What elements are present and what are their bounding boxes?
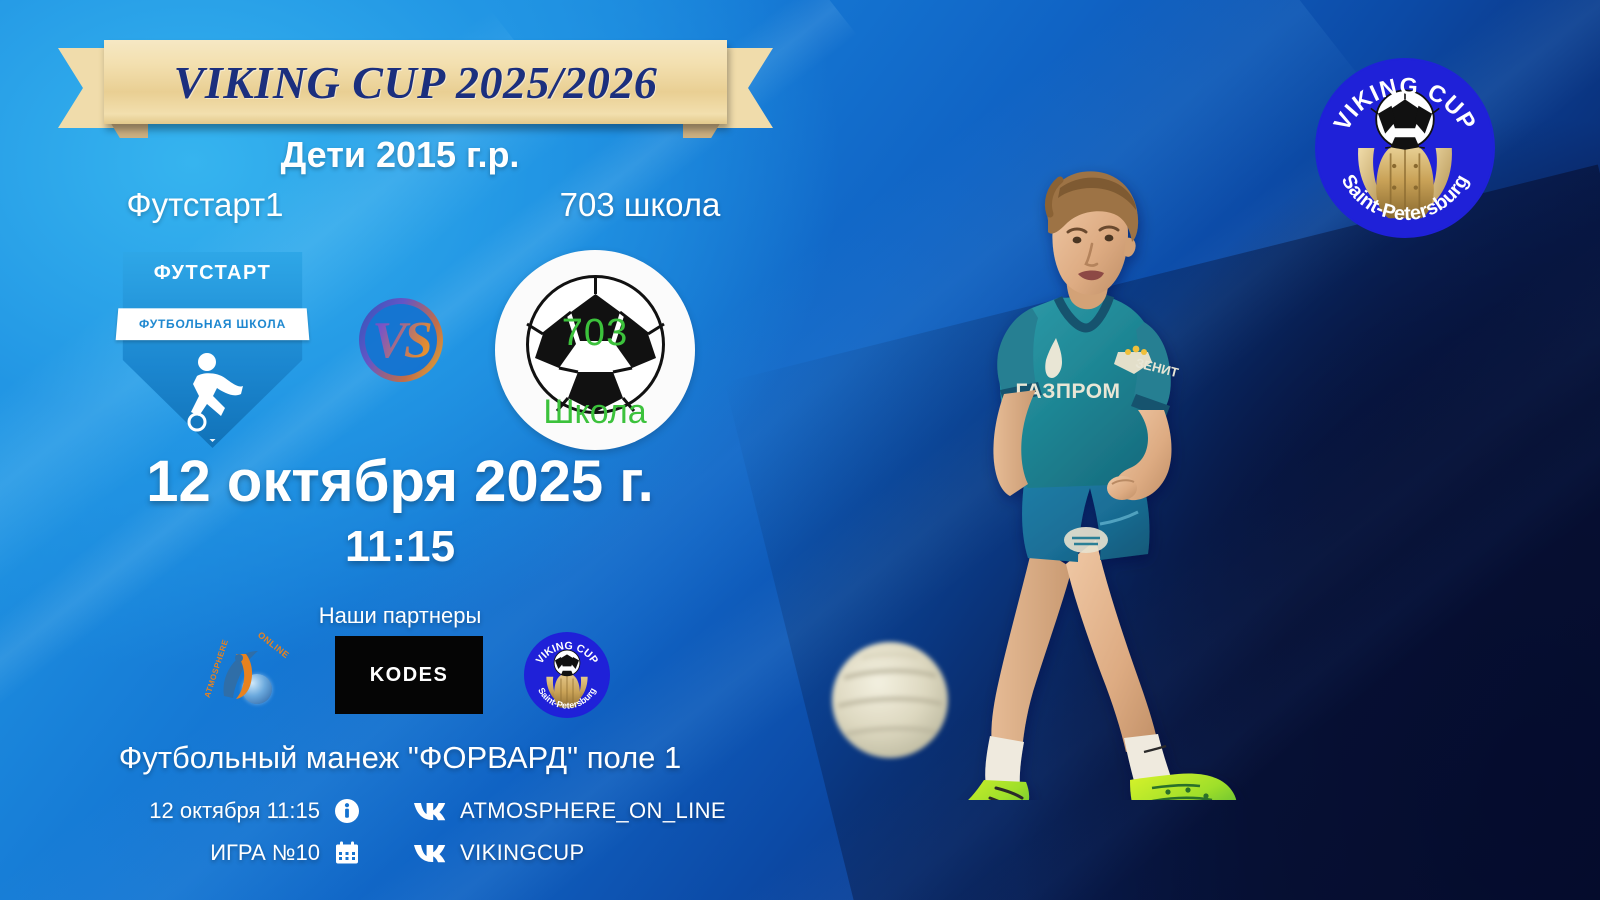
vk-handle-text: ATMOSPHERE_ON_LINE xyxy=(460,798,726,824)
viking-cup-brand-logo: VIKING CUP Saint-Petersburg xyxy=(1315,58,1495,238)
away-team-name: 703 школа xyxy=(490,186,790,224)
home-team-logo: ФУТСТАРТ ФУТБОЛЬНАЯ ШКОЛА xyxy=(115,248,310,448)
match-date: 12 октября 2025 г. xyxy=(0,448,800,515)
partner-logo-kodes[interactable]: KODES xyxy=(335,636,483,714)
info-row-right[interactable]: ATMOSPHERE_ON_LINE xyxy=(360,798,760,824)
vk-icon xyxy=(412,842,446,864)
away-logo-number: 703 xyxy=(495,312,695,355)
viking-cup-badge-icon: VIKING CUP Saint-Petersburg xyxy=(1315,58,1495,238)
team-names-row: Футстарт1 703 школа xyxy=(60,186,760,224)
team-logos-row: ФУТСТАРТ ФУТБОЛЬНАЯ ШКОЛА VS xyxy=(60,240,760,450)
partners-title: Наши партнеры xyxy=(0,603,800,629)
player-photo: ГАЗПРОМ ЗЕНИТ xyxy=(800,140,1320,800)
info-row: 12 октября 11:15 ATMOSPHERE_ON_LINE xyxy=(60,790,760,832)
event-title: VIKING CUP 2025/2026 xyxy=(174,56,658,109)
info-rows: 12 октября 11:15 ATMOSPHERE_ON_LINE ИГРА… xyxy=(60,790,760,874)
info-row-left: 12 октября 11:15 xyxy=(60,798,360,824)
info-datetime-text: 12 октября 11:15 xyxy=(149,798,320,824)
partner-logo-atmosphere-online[interactable]: ONLINE ATMOSPHERE xyxy=(190,634,294,716)
soccer-player-silhouette-icon xyxy=(177,352,249,432)
vk-handle-text: VIKINGCUP xyxy=(460,840,585,866)
partner-logo-viking-cup[interactable]: VIKING CUP Saint-Petersburg xyxy=(524,632,610,718)
info-icon xyxy=(334,798,360,824)
viking-cup-badge-icon: VIKING CUP Saint-Petersburg xyxy=(524,632,610,718)
versus-badge: VS xyxy=(353,292,449,388)
futstart-band-text: ФУТБОЛЬНАЯ ШКОЛА xyxy=(139,317,287,331)
info-row-right[interactable]: VIKINGCUP xyxy=(360,840,760,866)
away-team-logo: 703 Школа xyxy=(495,250,695,450)
futstart-band: ФУТБОЛЬНАЯ ШКОЛА xyxy=(116,308,310,340)
ribbon-banner: VIKING CUP 2025/2026 xyxy=(104,40,727,124)
home-team-name: Футстарт1 xyxy=(55,186,355,224)
match-announcement-poster: ГАЗПРОМ ЗЕНИТ xyxy=(0,0,1600,900)
away-logo-word: Школа xyxy=(495,393,695,432)
info-row: ИГРА №10 VIKINGCUP xyxy=(60,832,760,874)
game-number-text: ИГРА №10 xyxy=(210,840,320,866)
calendar-icon xyxy=(334,840,360,866)
venue-label: Футбольный манеж "ФОРВАРД" поле 1 xyxy=(0,740,800,776)
partners-row: ONLINE ATMOSPHERE KODES xyxy=(190,634,610,716)
match-time: 11:15 xyxy=(0,522,800,572)
vk-icon xyxy=(412,800,446,822)
futstart-top-text: ФУТСТАРТ xyxy=(115,262,310,285)
event-title-ribbon: VIKING CUP 2025/2026 xyxy=(58,40,773,136)
age-group-label: Дети 2015 г.р. xyxy=(0,134,800,176)
versus-label: VS xyxy=(353,292,449,388)
info-row-left: ИГРА №10 xyxy=(60,840,360,866)
kodes-label: KODES xyxy=(370,664,449,687)
